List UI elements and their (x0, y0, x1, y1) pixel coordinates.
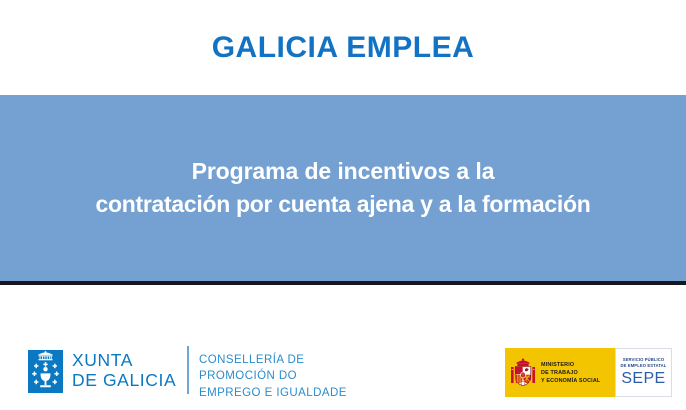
spain-coat-of-arms-icon (510, 356, 536, 390)
ministerio-line-3: Y ECONOMÍA SOCIAL (541, 377, 600, 385)
sepe-caption: SERVICIO PÚBLICO DE EMPLEO ESTATAL (621, 357, 667, 370)
xunta-wordmark: XUNTA DE GALICIA (72, 351, 176, 390)
poster-page: GALICIA EMPLEA Programa de incentivos a … (0, 0, 686, 410)
ministerio-line-1: MINISTERIO (541, 361, 600, 369)
program-banner-text: Programa de incentivos a la contratación… (0, 155, 686, 220)
sepe-caption-line-2: DE EMPLEO ESTATAL (621, 363, 667, 369)
ministerio-wordmark: MINISTERIO DE TRABAJO Y ECONOMÍA SOCIAL (541, 361, 600, 385)
ministerio-line-2: DE TRABAJO (541, 369, 600, 377)
xunta-wordmark-line-1: XUNTA (72, 351, 176, 371)
ministerio-de-trabajo-logo: MINISTERIO DE TRABAJO Y ECONOMÍA SOCIAL (505, 348, 615, 397)
program-banner: Programa de incentivos a la contratación… (0, 95, 686, 281)
program-banner-line-1: Programa de incentivos a la (14, 155, 672, 188)
galicia-coat-of-arms-icon (28, 350, 63, 393)
program-banner-line-2: contratación por cuenta ajena y a la for… (14, 188, 672, 221)
sepe-wordmark: SEPE (621, 371, 665, 387)
conselleria-line-2: PROMOCIÓN DO (199, 368, 347, 384)
xunta-de-galicia-logo: XUNTA DE GALICIA (28, 348, 176, 394)
conselleria-block: CONSELLERÍA DE PROMOCIÓN DO EMPREGO E IG… (199, 352, 347, 401)
ministry-sepe-logo-group: MINISTERIO DE TRABAJO Y ECONOMÍA SOCIAL … (505, 348, 672, 397)
sepe-logo: SERVICIO PÚBLICO DE EMPLEO ESTATAL SEPE (615, 348, 672, 397)
conselleria-line-3: EMPREGO E IGUALDADE (199, 385, 347, 401)
xunta-wordmark-line-2: DE GALICIA (72, 371, 176, 391)
footer-vertical-divider (187, 346, 189, 394)
header-band: GALICIA EMPLEA (0, 0, 686, 95)
page-title: GALICIA EMPLEA (212, 33, 475, 63)
conselleria-line-1: CONSELLERÍA DE (199, 352, 347, 368)
